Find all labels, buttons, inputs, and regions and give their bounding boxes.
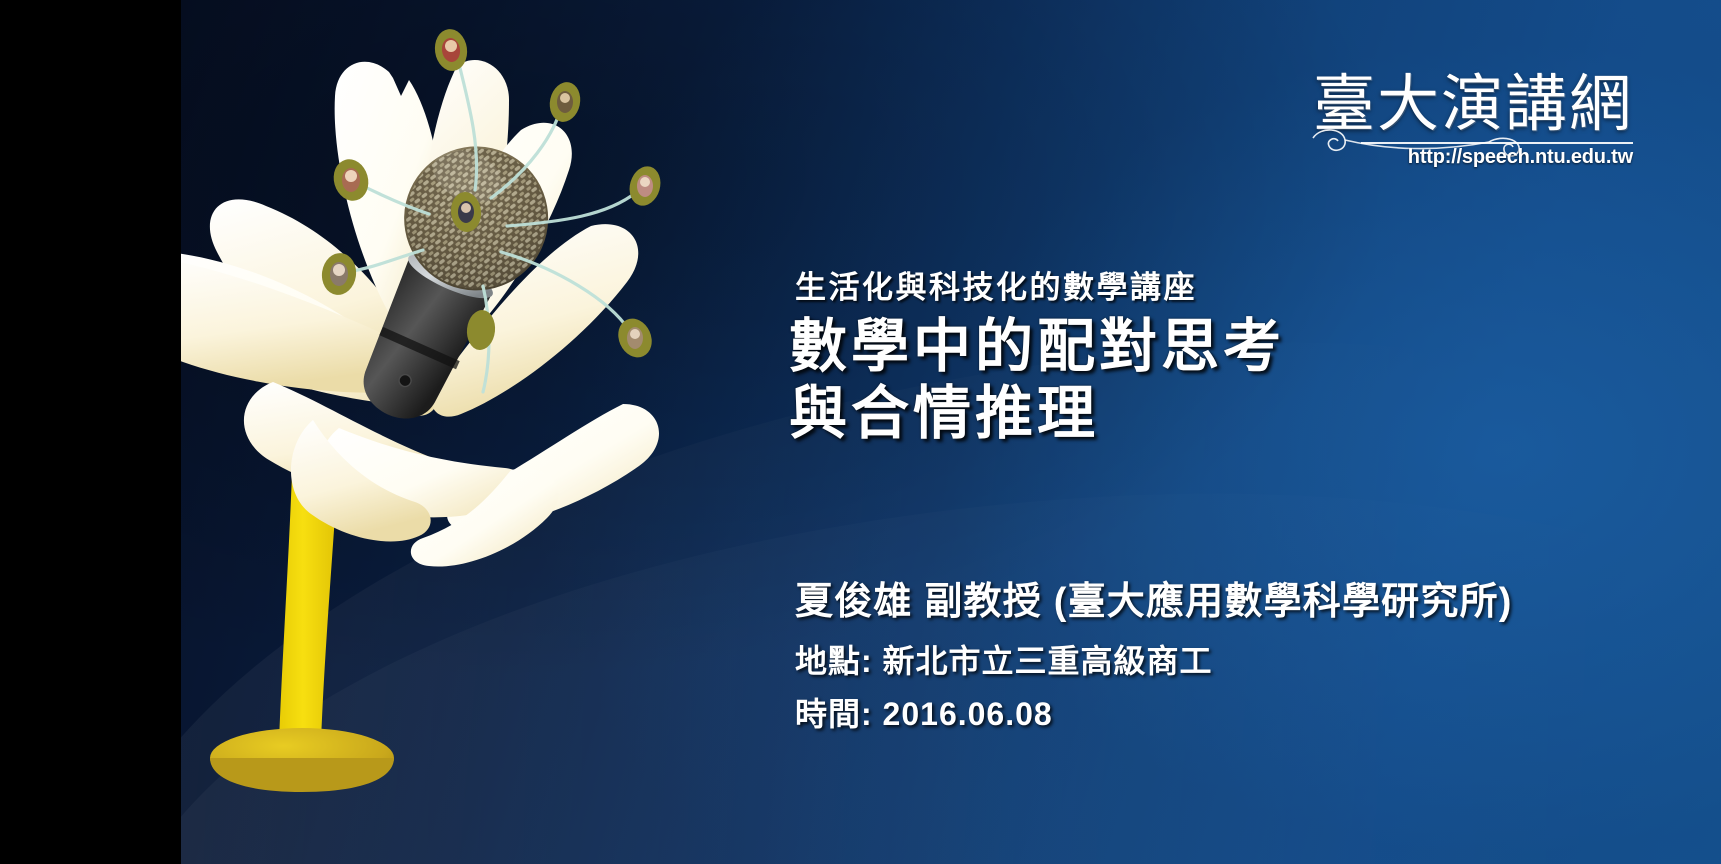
logo-url-wrap: http://speech.ntu.edu.tw [1313,142,1633,169]
presentation-slide: 臺大演講網 http://speech.ntu.edu.tw 生活化與科技化的數… [0,0,1721,864]
letterbox-bar-left [0,0,181,864]
lily-flower-svg [161,0,761,864]
logo-title: 臺大演講網 [1313,74,1633,136]
title-block: 生活化與科技化的數學講座 數學中的配對思考 與合情推理 [795,262,1715,448]
venue-line: 地點: 新北市立三重高級商工 [795,636,1721,682]
talk-title-line2: 與合情推理 [789,380,1715,447]
flower-microphone-graphic [181,0,741,864]
logo-divider [1361,142,1633,144]
speaker-block: 夏俊雄 副教授 (臺大應用數學科學研究所) 地點: 新北市立三重高級商工 時間:… [795,570,1721,742]
speaker-name-and-affiliation: 夏俊雄 副教授 (臺大應用數學科學研究所) [795,570,1721,625]
logo-url[interactable]: http://speech.ntu.edu.tw [1313,146,1633,169]
datetime-line: 時間: 2016.06.08 [795,689,1721,735]
site-logo[interactable]: 臺大演講網 http://speech.ntu.edu.tw [1313,74,1633,169]
series-kicker: 生活化與科技化的數學講座 [795,262,1715,307]
talk-title-line1: 數學中的配對思考 [789,313,1715,380]
